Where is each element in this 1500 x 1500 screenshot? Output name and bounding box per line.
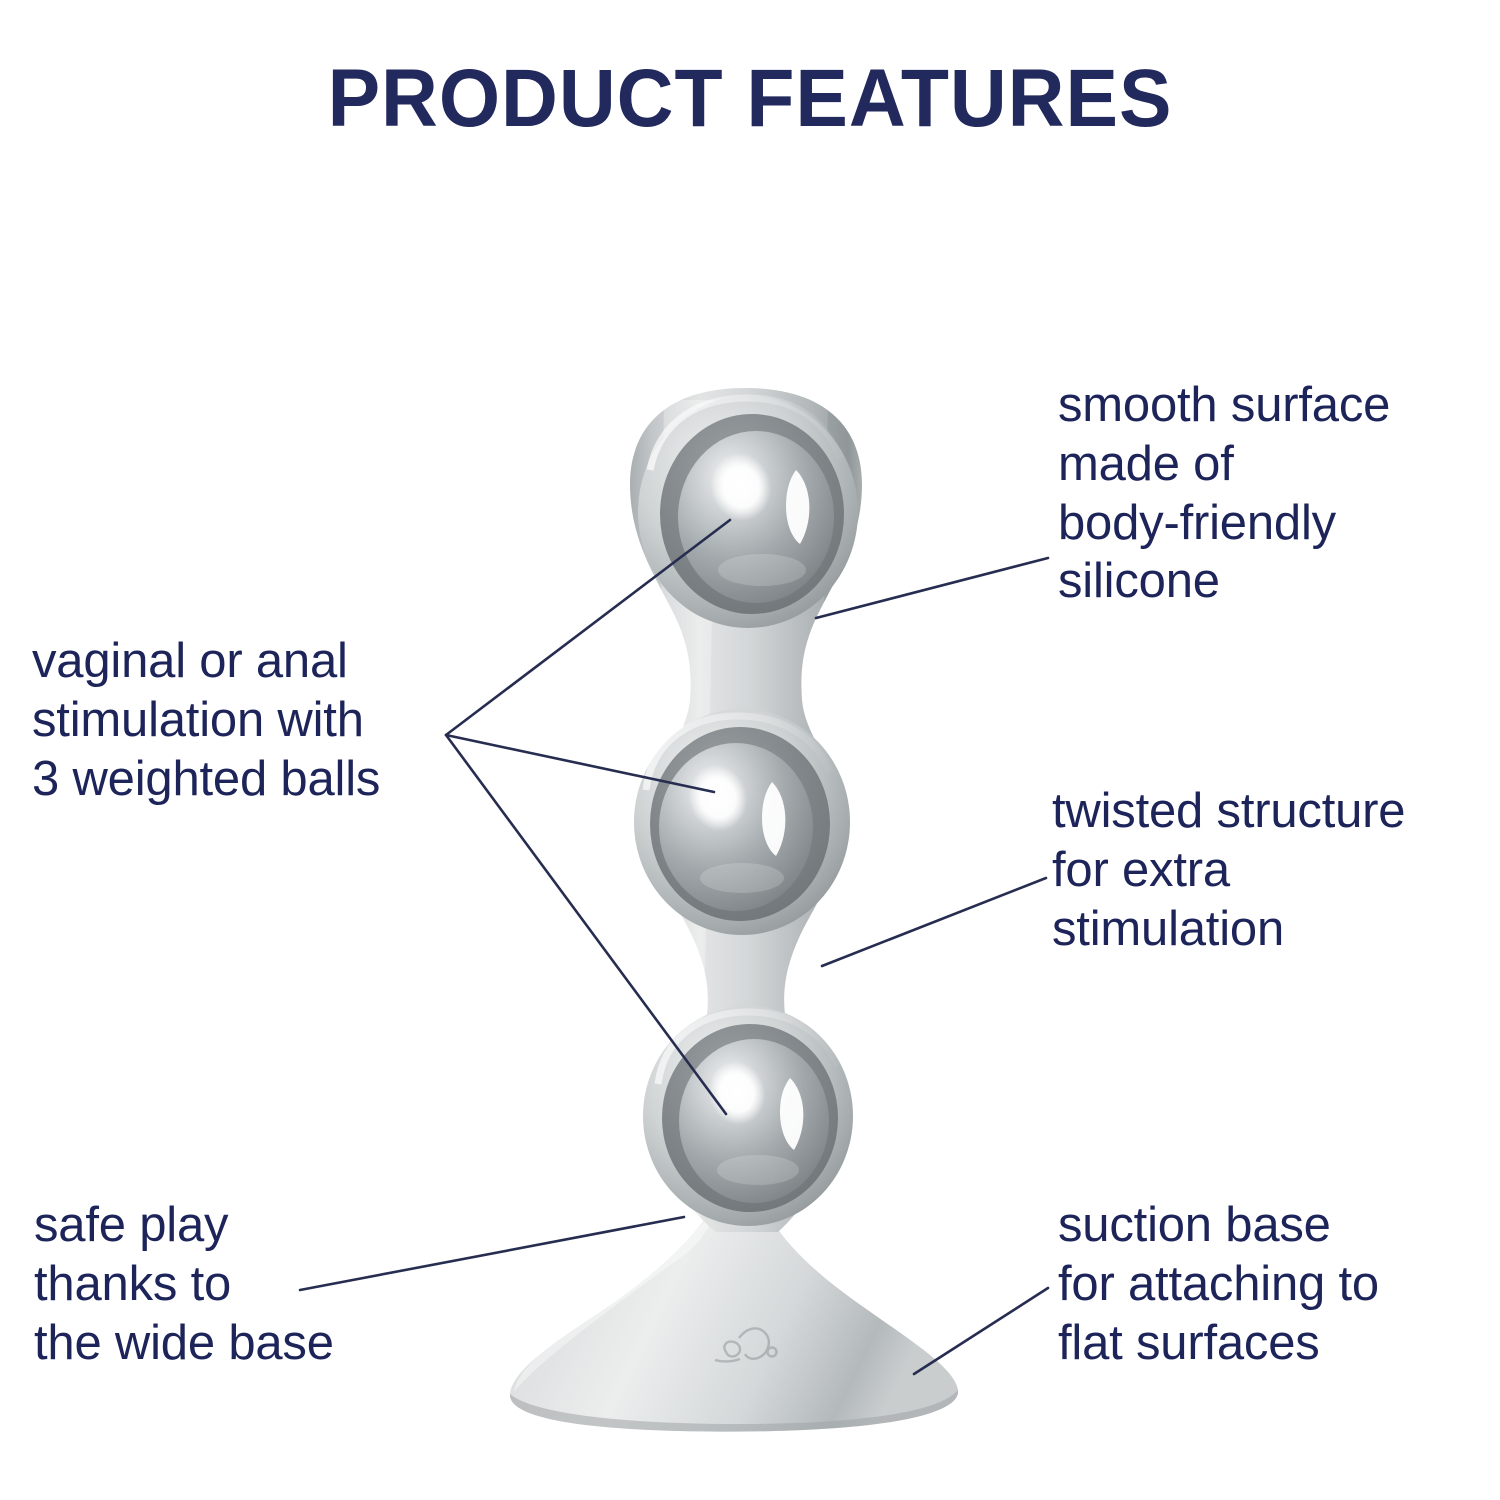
leader-smooth-surface bbox=[816, 558, 1048, 618]
leader-weighted-balls-top bbox=[446, 520, 730, 735]
leader-twisted-structure bbox=[822, 878, 1046, 966]
leader-weighted-balls-middle bbox=[446, 735, 714, 792]
product-features-infographic: PRODUCT FEATURES bbox=[0, 0, 1500, 1500]
leader-safe-play bbox=[300, 1217, 684, 1290]
leader-weighted-balls-bottom bbox=[446, 735, 726, 1114]
leader-suction-base bbox=[914, 1288, 1048, 1374]
leader-lines bbox=[0, 0, 1500, 1500]
